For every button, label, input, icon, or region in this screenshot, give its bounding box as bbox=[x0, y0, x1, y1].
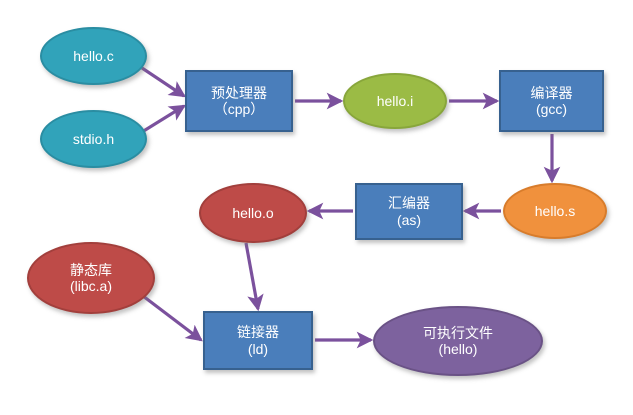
node-assembler-label: 汇编器 bbox=[388, 195, 430, 211]
node-hello-s[interactable]: hello.s bbox=[503, 183, 607, 239]
node-linker-label: 链接器 bbox=[237, 324, 279, 340]
node-linker-sublabel: (ld) bbox=[248, 341, 268, 357]
node-static-lib[interactable]: 静态库 (libc.a) bbox=[27, 242, 155, 314]
edge-hello-o-to-linker bbox=[246, 243, 258, 309]
node-stdio-h[interactable]: stdio.h bbox=[40, 110, 147, 168]
node-stdio-h-label: stdio.h bbox=[73, 131, 114, 147]
node-hello-o-label: hello.o bbox=[232, 205, 273, 221]
node-preprocessor-label: 预处理器 bbox=[211, 85, 267, 101]
node-hello-c[interactable]: hello.c bbox=[40, 27, 147, 85]
node-compiler[interactable]: 编译器 (gcc) bbox=[499, 70, 604, 132]
node-hello-s-label: hello.s bbox=[535, 203, 575, 219]
node-assembler-sublabel: (as) bbox=[397, 212, 421, 228]
node-hello-c-label: hello.c bbox=[73, 48, 113, 64]
node-static-lib-label: 静态库 bbox=[70, 262, 112, 278]
edge-hello-c-to-preprocessor bbox=[142, 68, 184, 96]
node-hello-i-label: hello.i bbox=[377, 93, 414, 109]
node-hello-o[interactable]: hello.o bbox=[199, 183, 307, 243]
node-executable-sublabel: (hello) bbox=[439, 341, 478, 357]
node-assembler[interactable]: 汇编器 (as) bbox=[355, 183, 463, 240]
node-linker[interactable]: 链接器 (ld) bbox=[203, 311, 313, 370]
node-static-lib-sublabel: (libc.a) bbox=[70, 278, 112, 294]
edge-static-lib-to-linker bbox=[143, 296, 201, 340]
diagram-canvas: hello.c stdio.h 预处理器 （cpp） hello.i 编译器 (… bbox=[0, 0, 633, 415]
node-hello-i[interactable]: hello.i bbox=[343, 73, 447, 129]
node-executable[interactable]: 可执行文件 (hello) bbox=[373, 306, 543, 376]
edge-stdio-h-to-preprocessor bbox=[142, 106, 184, 132]
node-compiler-label: 编译器 bbox=[531, 85, 573, 101]
node-executable-label: 可执行文件 bbox=[423, 325, 493, 341]
node-preprocessor[interactable]: 预处理器 （cpp） bbox=[185, 70, 293, 132]
node-compiler-sublabel: (gcc) bbox=[536, 101, 567, 117]
node-preprocessor-sublabel: （cpp） bbox=[214, 101, 265, 117]
